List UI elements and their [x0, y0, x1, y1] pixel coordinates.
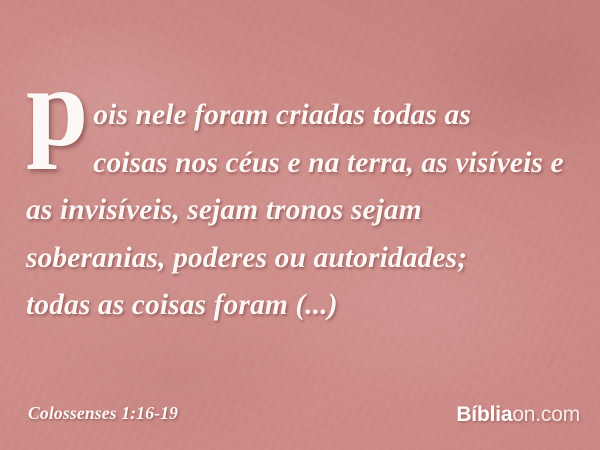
verse-line: ois nele foram criadas todas as — [26, 62, 574, 140]
brand-name-secondary: on.com — [512, 403, 580, 426]
verse-line: as invisíveis, sejam tronos sejam — [26, 187, 574, 235]
verse-line: coisas nos céus e na terra, as visíveis … — [26, 140, 574, 188]
brand-name-primary: Bíblia — [456, 403, 512, 426]
verse-line: todas as coisas foram (...) — [26, 282, 574, 330]
bibliaon-logo[interactable]: Bíbliaon.com — [456, 404, 580, 425]
verse-reference: Colossenses 1:16-19 — [28, 403, 178, 424]
verse-quote-block: p ois nele foram criadas todas as coisas… — [26, 62, 574, 330]
bible-verse-image: p ois nele foram criadas todas as coisas… — [0, 0, 600, 450]
verse-line: soberanias, poderes ou autoridades; — [26, 235, 574, 283]
drop-cap-letter: p — [26, 70, 88, 146]
